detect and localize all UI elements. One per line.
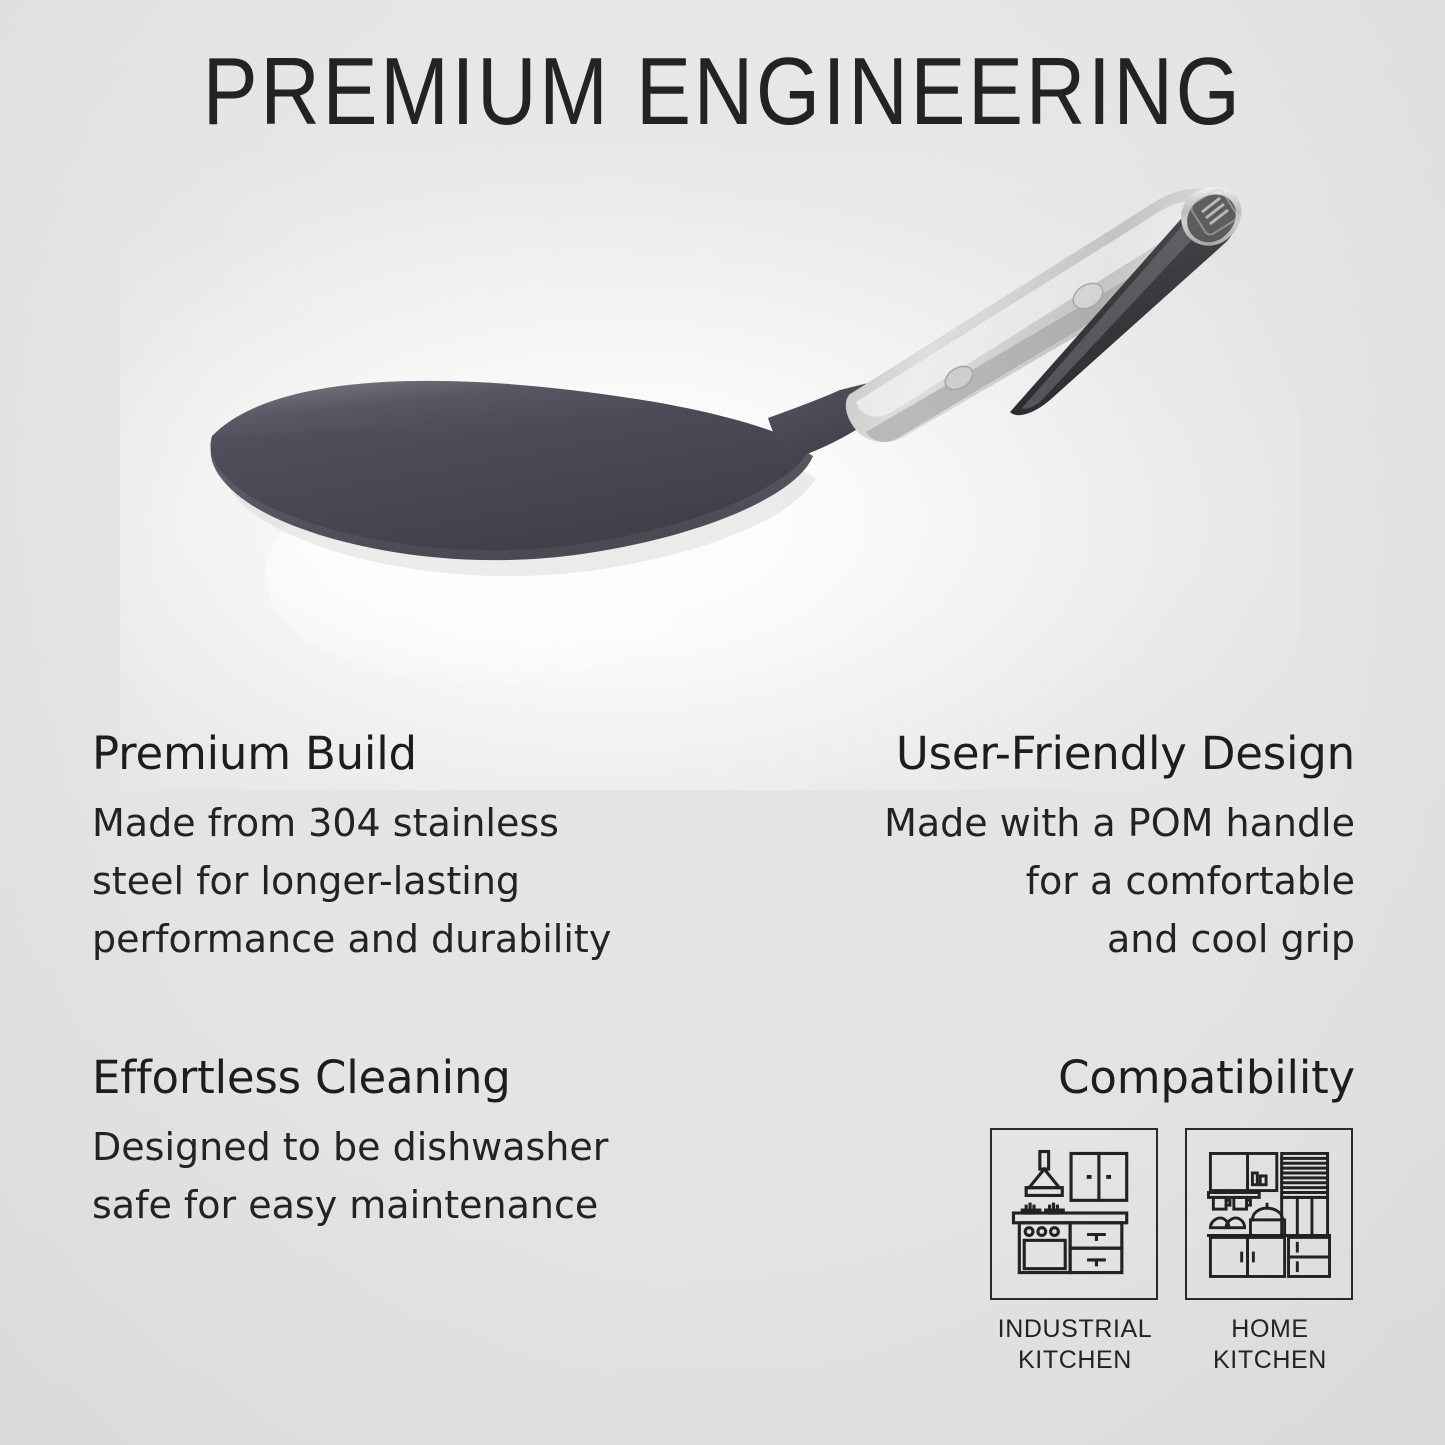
feature-body-line: safe for easy maintenance	[92, 1183, 598, 1227]
feature-body-line: steel for longer-lasting	[92, 859, 520, 903]
compatibility-item-home-kitchen: HOME KITCHEN	[1185, 1128, 1355, 1376]
compatibility-label-line: KITCHEN	[1018, 1346, 1132, 1374]
industrial-kitchen-box	[990, 1128, 1158, 1300]
compatibility-label-line: KITCHEN	[1213, 1346, 1327, 1374]
product-feature-infographic: PREMIUM ENGINEERING	[0, 0, 1445, 1445]
feature-body: Made with a POM handle for a comfortable…	[763, 794, 1356, 968]
features-grid: Premium Build Made from 304 stainless st…	[0, 726, 1445, 1376]
product-image	[150, 150, 1280, 710]
page-title: PREMIUM ENGINEERING	[101, 44, 1344, 140]
feature-body-line: Made with a POM handle	[884, 801, 1355, 845]
feature-body-line: and cool grip	[1107, 917, 1355, 961]
feature-premium-build: Premium Build Made from 304 stainless st…	[0, 726, 723, 968]
feature-body: Made from 304 stainless steel for longer…	[92, 794, 683, 968]
compatibility-label-line: INDUSTRIAL	[998, 1315, 1153, 1343]
feature-user-friendly-design: User-Friendly Design Made with a POM han…	[723, 726, 1445, 968]
feature-body: Designed to be dishwasher safe for easy …	[92, 1118, 683, 1234]
feature-effortless-cleaning: Effortless Cleaning Designed to be dishw…	[0, 1050, 723, 1376]
compatibility-label: INDUSTRIAL KITCHEN	[990, 1314, 1160, 1376]
features-row-1: Premium Build Made from 304 stainless st…	[0, 726, 1445, 968]
feature-body-line: Designed to be dishwasher	[92, 1125, 608, 1169]
feature-body-line: for a comfortable	[1026, 859, 1355, 903]
industrial-kitchen-icon	[992, 1130, 1156, 1298]
compatibility-heading: Compatibility	[763, 1050, 1356, 1106]
feature-body-line: Made from 304 stainless	[92, 801, 559, 845]
compatibility-label-line: HOME	[1231, 1315, 1308, 1343]
home-kitchen-icon	[1187, 1130, 1351, 1298]
feature-heading: Premium Build	[92, 726, 683, 782]
feature-heading: User-Friendly Design	[763, 726, 1356, 782]
feature-heading: Effortless Cleaning	[92, 1050, 683, 1106]
feature-compatibility: Compatibility	[723, 1050, 1445, 1376]
feature-body-line: performance and durability	[92, 917, 611, 961]
home-kitchen-box	[1185, 1128, 1353, 1300]
compatibility-label: HOME KITCHEN	[1185, 1314, 1355, 1376]
compatibility-boxes: INDUSTRIAL KITCHEN	[763, 1128, 1356, 1376]
features-row-2: Effortless Cleaning Designed to be dishw…	[0, 1050, 1445, 1376]
spatula-handle	[846, 187, 1242, 442]
compatibility-item-industrial-kitchen: INDUSTRIAL KITCHEN	[990, 1128, 1160, 1376]
